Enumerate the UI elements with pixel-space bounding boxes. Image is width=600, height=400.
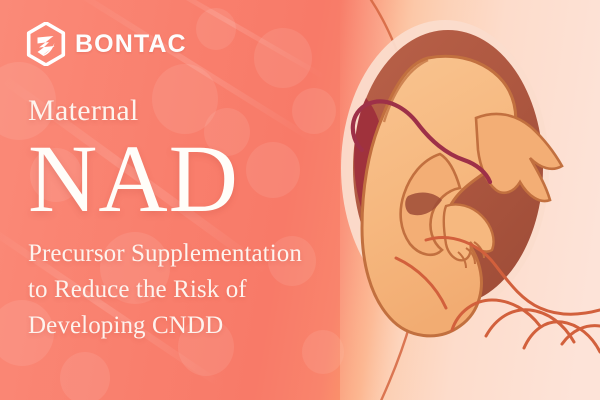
subhead-line: to Reduce the Risk of [28, 272, 378, 308]
headline-block: Maternal NAD Precursor Supplementation t… [28, 96, 378, 345]
eyebrow-text: Maternal [28, 96, 378, 126]
subhead-line: Developing CNDD [28, 308, 378, 344]
brand-logo[interactable]: BONTAC [26, 22, 187, 66]
bontac-hexagon-logo-icon [26, 22, 66, 66]
promotional-banner: BONTAC Maternal NAD Precursor Supplement… [0, 0, 600, 400]
subhead-line: Precursor Supplementation [28, 236, 378, 272]
hero-title: NAD [28, 130, 378, 228]
brand-wordmark: BONTAC [75, 32, 187, 57]
subhead-text: Precursor Supplementation to Reduce the … [28, 236, 378, 345]
